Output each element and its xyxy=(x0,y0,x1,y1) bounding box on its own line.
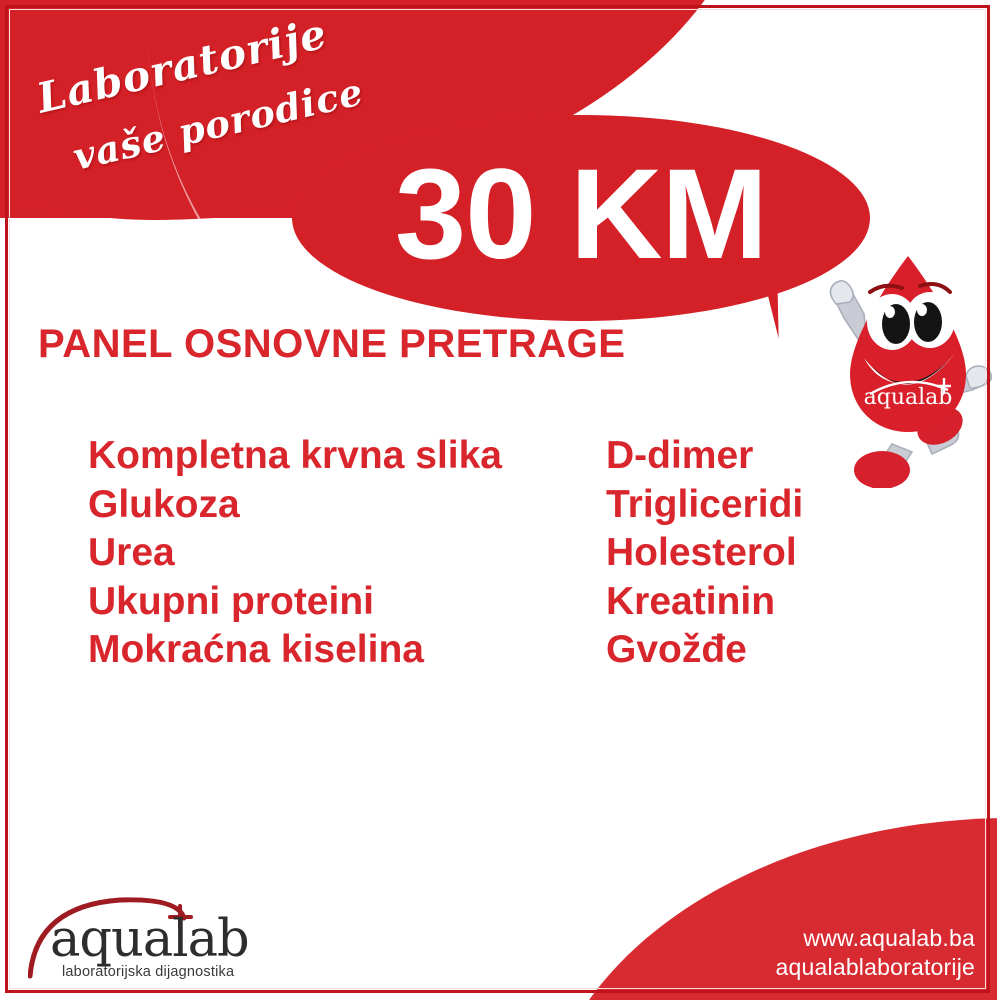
list-item: Kreatinin xyxy=(606,578,803,627)
promo-poster: Laboratorije vaše porodice 30 KM PANEL O… xyxy=(0,0,997,1000)
script-tagline: Laboratorije vaše porodice xyxy=(22,18,352,168)
test-list-right: D-dimer Trigliceridi Holesterol Kreatini… xyxy=(606,432,803,675)
svg-text:aqualab: aqualab xyxy=(864,385,953,410)
list-item: Urea xyxy=(88,529,502,578)
list-item: Ukupni proteini xyxy=(88,578,502,627)
list-item: Glukoza xyxy=(88,481,502,530)
aqualab-logo: aqualab laboratorijska dijagnostika xyxy=(28,888,288,980)
blood-drop-mascot-icon: aqualab xyxy=(820,248,995,488)
logo-wordmark: aqualab xyxy=(50,914,249,965)
list-item: Mokraćna kiselina xyxy=(88,626,502,675)
price-amount: 30 KM xyxy=(395,151,767,279)
list-item: Gvožđe xyxy=(606,626,803,675)
list-item: Trigliceridi xyxy=(606,481,803,530)
test-list-left: Kompletna krvna slika Glukoza Urea Ukupn… xyxy=(88,432,502,675)
list-item: Holesterol xyxy=(606,529,803,578)
logo-tagline: laboratorijska dijagnostika xyxy=(62,964,234,980)
contact-info: www.aqualab.ba aqualablaboratorije xyxy=(776,924,975,982)
list-item: Kompletna krvna slika xyxy=(88,432,502,481)
list-item: D-dimer xyxy=(606,432,803,481)
website-url[interactable]: www.aqualab.ba xyxy=(776,924,975,953)
page-title: PANEL OSNOVNE PRETRAGE xyxy=(38,322,625,367)
price-bubble: 30 KM xyxy=(292,115,870,321)
social-handle[interactable]: aqualablaboratorije xyxy=(776,953,975,982)
